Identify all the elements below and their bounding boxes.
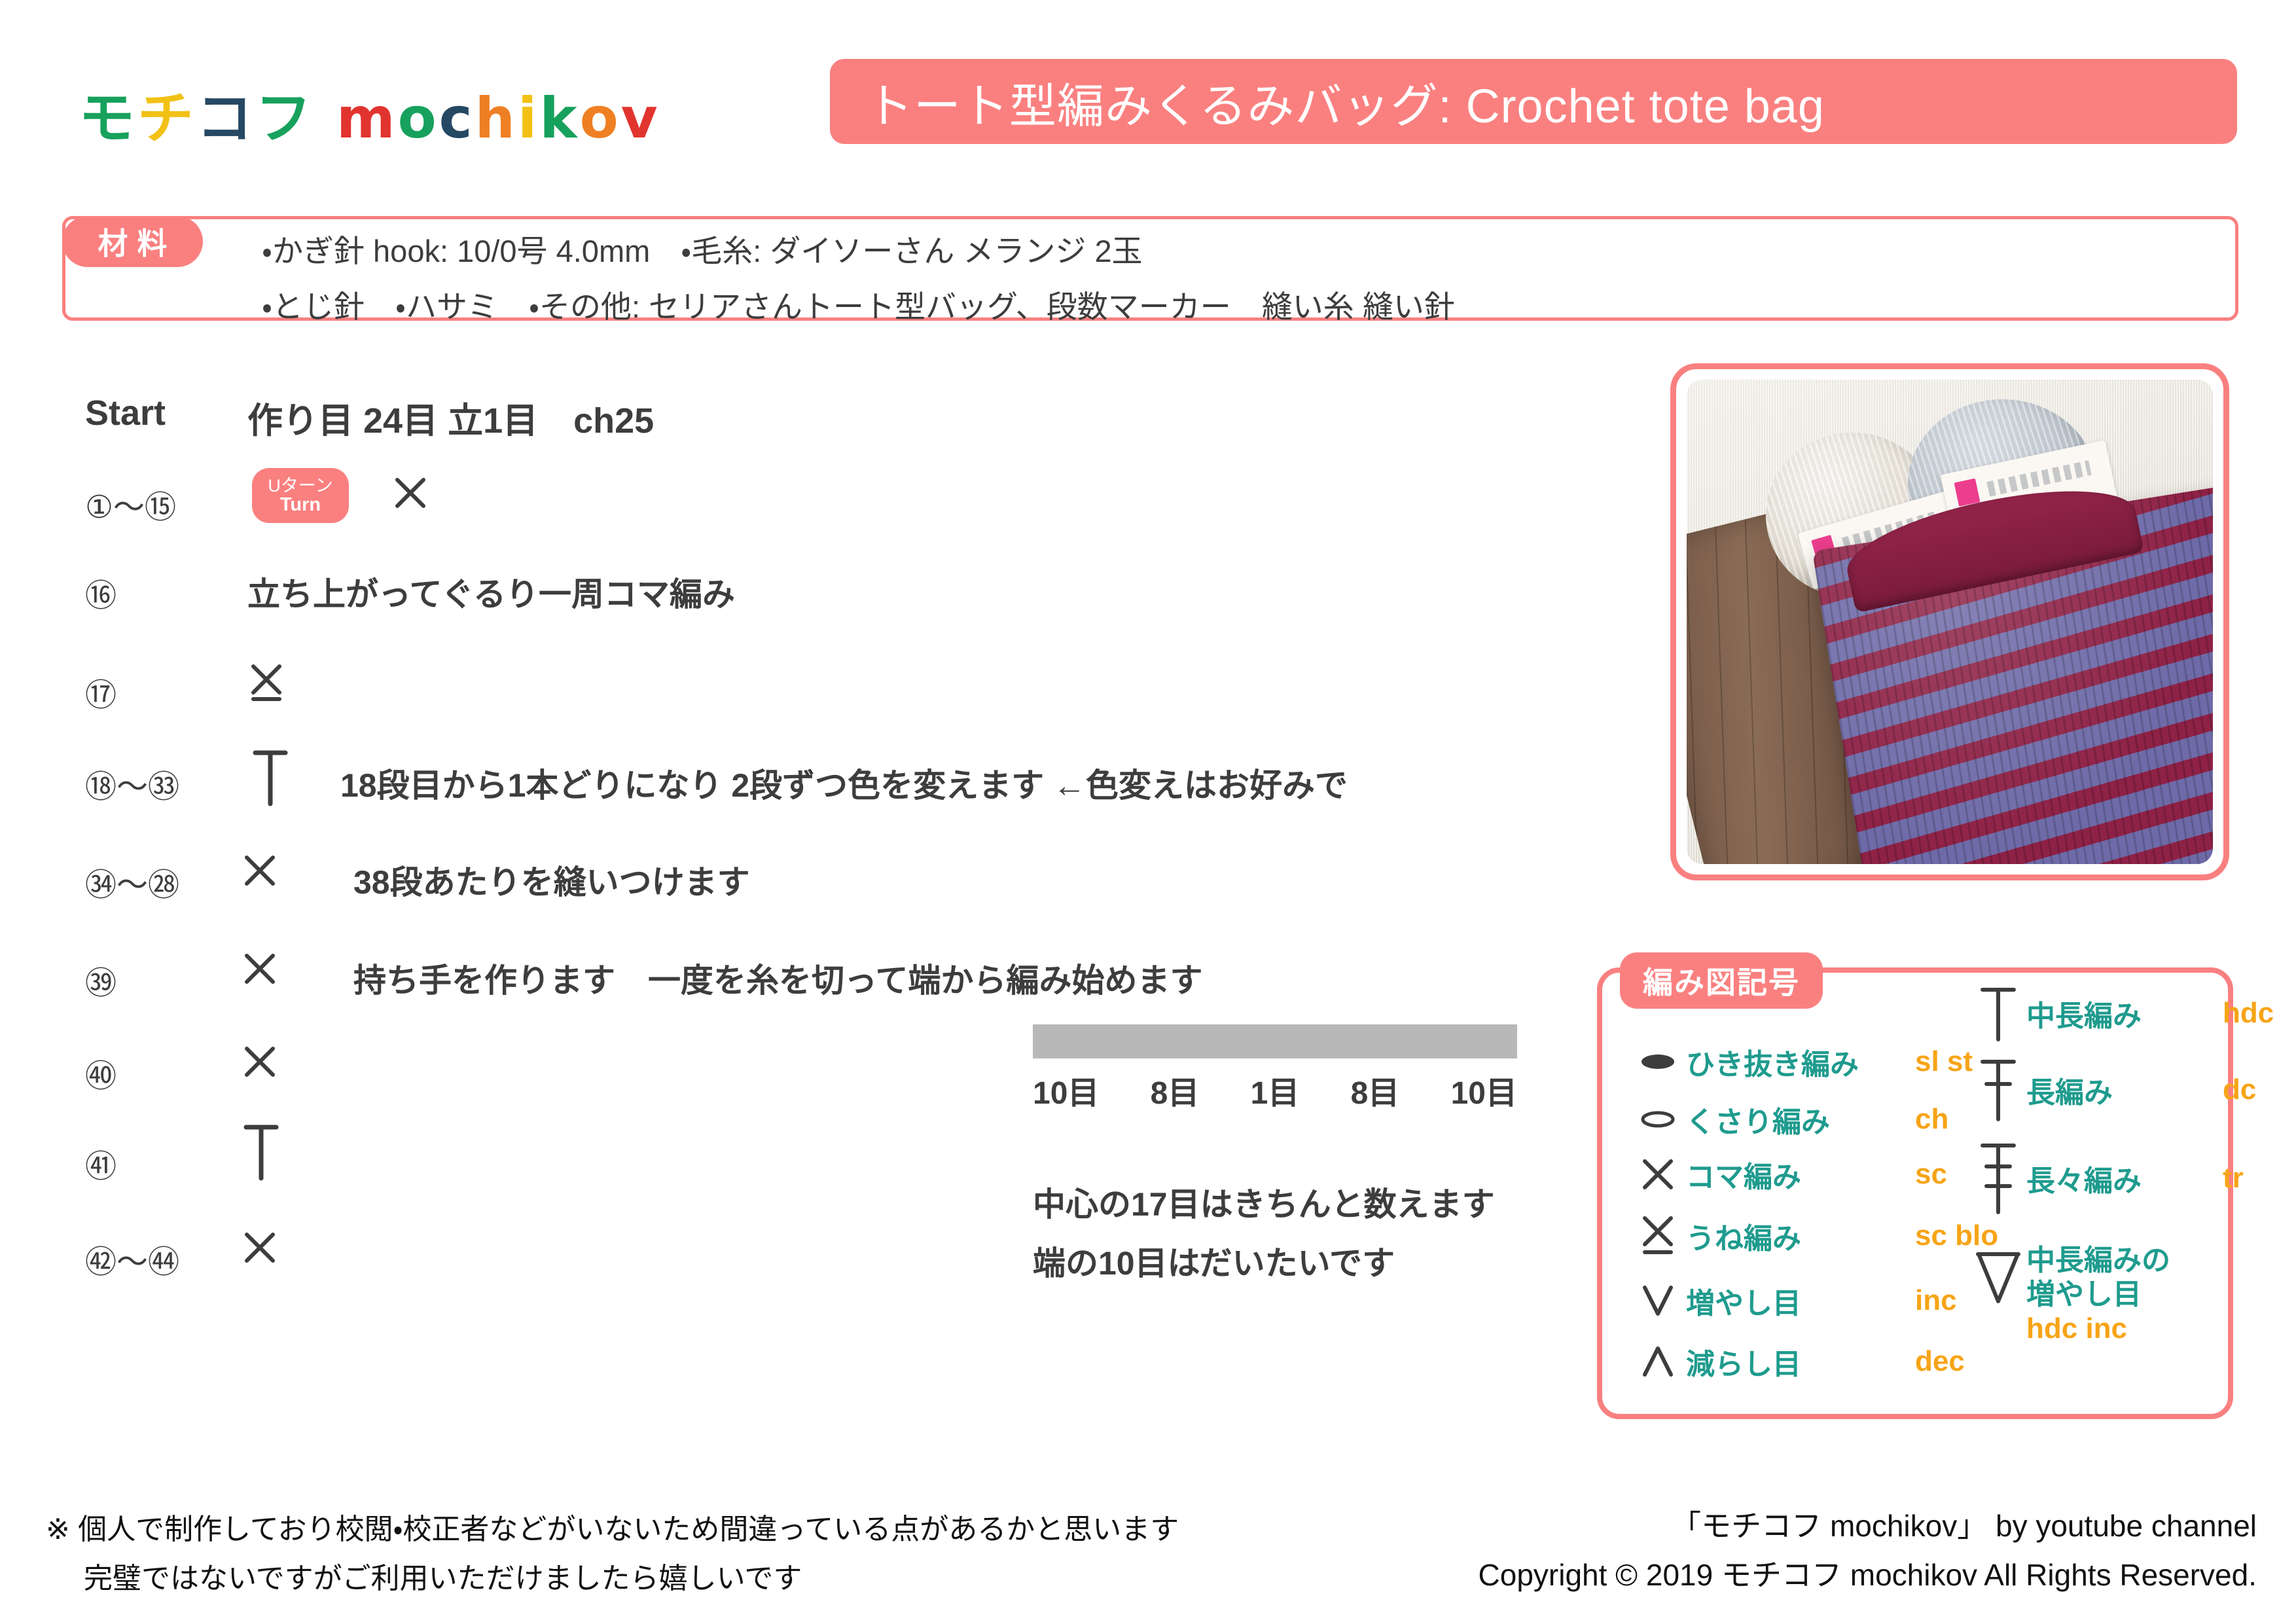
dc-icon <box>1970 1054 2026 1126</box>
row-text-18-33: 18段目から1本どりになり 2段ずつ色を変えます ←色変えはお好みで <box>340 759 1348 806</box>
legend-en-inc: inc <box>1915 1284 1957 1317</box>
legend-jp-sl-st: ひき抜き編み <box>1686 1041 1915 1083</box>
start-label: Start <box>85 393 166 433</box>
legend-item-hdc: 中長編み hdc <box>1970 982 2274 1045</box>
legend-jp-tr: 長々編み <box>2026 1157 2223 1199</box>
count-1: 10目 <box>1033 1067 1099 1113</box>
legend-en-dec: dec <box>1915 1345 1965 1378</box>
row-label-17: ⑰ <box>85 669 117 715</box>
legend-en-sc: sc <box>1915 1158 1947 1191</box>
turn-badge-en: Turn <box>280 495 321 514</box>
legend-jp-hdc: 中長編み <box>2026 992 2223 1034</box>
legend-en-dc: dc <box>2223 1074 2256 1106</box>
count-3: 1目 <box>1251 1067 1300 1113</box>
start-text: 作り目 24目 立1目 ch25 <box>247 391 654 443</box>
row-text-39: 持ち手を作ります 一度を糸を切って端から編み始めます <box>353 954 1203 1001</box>
credit-line-1: 「モチコフ mochikov」 by youtube channel <box>1671 1502 2257 1545</box>
legend-hdc-inc-labels: 中長編みの 増やし目 hdc inc <box>2026 1244 2170 1346</box>
title-banner: トート型編みくるみバッグ: Crochet tote bag <box>830 59 2237 144</box>
legend-jp-dc: 長編み <box>2026 1069 2223 1111</box>
row-symbol-sc-34-38 <box>242 852 278 889</box>
legend-jp-hdc-inc-2: 増やし目 <box>2026 1278 2170 1312</box>
legend-item-sc: コマ編み sc <box>1630 1153 1947 1195</box>
sc-icon <box>1630 1156 1686 1193</box>
sc-blo-icon <box>1630 1214 1686 1257</box>
row-symbol-sc-1-15 <box>393 475 428 511</box>
materials-line-2: ・とじ針 ・ハサミ ・その他: セリアさんトート型バッグ、段数マーカー 縫い糸 … <box>262 281 1455 327</box>
legend-en-tr: tr <box>2223 1162 2244 1195</box>
row-symbol-sc-39 <box>242 950 278 987</box>
legend-item-dec: 減らし目 dec <box>1630 1341 1965 1382</box>
legend-item-inc: 増やし目 inc <box>1630 1280 1957 1322</box>
handle-note-2: 端の10目はだいたいです <box>1033 1237 1395 1284</box>
ch-icon <box>1630 1108 1686 1131</box>
handle-note-1: 中心の17目はきちんと数えます <box>1033 1178 1495 1225</box>
product-photo-frame <box>1670 363 2229 880</box>
legend-item-sc-blo: うね編み sc blo <box>1630 1214 1998 1257</box>
turn-badge-jp: Uターン <box>268 477 332 495</box>
legend-jp-sc-blo: うね編み <box>1686 1215 1915 1257</box>
disclaimer-line-2: 完璧ではないですがご利用いただけましたら嬉しいです <box>84 1555 802 1597</box>
row-symbol-sc-blo-17 <box>249 662 284 706</box>
document-page: モチコフ mochikov トート型編みくるみバッグ: Crochet tote… <box>0 0 2296 1624</box>
count-4: 8目 <box>1351 1067 1400 1113</box>
legend-jp-inc: 増やし目 <box>1686 1280 1915 1322</box>
handle-stitch-counts: 10目 8目 1目 8目 10目 <box>1033 1067 1517 1113</box>
row-text-16: 立ち上がってぐるり一周コマ編み <box>247 568 735 615</box>
dec-icon <box>1630 1343 1686 1380</box>
legend-en-ch: ch <box>1915 1103 1948 1136</box>
inc-icon <box>1630 1282 1686 1319</box>
row-label-1-15: ①〜⑮ <box>85 481 176 527</box>
sl-st-icon <box>1630 1050 1686 1074</box>
count-5: 10目 <box>1451 1067 1517 1113</box>
turn-badge: Uターン Turn <box>252 468 349 523</box>
brand-logo: モチコフ mochikov <box>79 72 660 154</box>
credit-line-2: Copyright © 2019 モチコフ mochikov All Right… <box>1479 1551 2257 1595</box>
materials-line-1: ・かぎ針 hook: 10/0号 4.0mm ・毛糸: ダイソーさん メランジ … <box>262 226 1143 271</box>
row-text-34-38: 38段あたりを縫いつけます <box>353 856 750 903</box>
disclaimer-line-1: ※ 個人で制作しており校閲・校正者などがいないため間違っている点があるかと思いま… <box>46 1506 1179 1547</box>
materials-badge: 材料 <box>62 216 203 267</box>
row-symbol-sc-42-44 <box>242 1229 278 1266</box>
legend-jp-ch: くさり編み <box>1686 1098 1915 1140</box>
row-symbol-hdc-41 <box>241 1121 281 1183</box>
row-label-42-44: ㊷〜㊹ <box>85 1236 179 1282</box>
hdc-icon <box>1970 982 2026 1045</box>
legend-en-hdc-inc: hdc inc <box>2026 1312 2170 1346</box>
row-label-34-38: ㉞〜㉘ <box>85 859 179 905</box>
legend-item-sl-st: ひき抜き編み sl st <box>1630 1041 1973 1083</box>
legend-jp-sc: コマ編み <box>1686 1153 1915 1195</box>
product-photo <box>1687 380 2213 864</box>
legend-item-dc: 長編み dc <box>1970 1054 2256 1126</box>
legend-en-hdc: hdc <box>2223 997 2274 1030</box>
legend-item-tr: 長々編み tr <box>1970 1138 2244 1219</box>
legend-jp-dec: 減らし目 <box>1686 1341 1915 1382</box>
row-symbol-hdc-18-33 <box>250 746 291 809</box>
row-label-40: ㊵ <box>85 1050 117 1096</box>
page-title: トート型編みくるみバッグ: Crochet tote bag <box>866 67 1825 136</box>
row-label-41: ㊶ <box>85 1140 117 1186</box>
count-2: 8目 <box>1151 1067 1200 1113</box>
row-label-16: ⑯ <box>85 569 117 615</box>
row-label-39: ㊴ <box>85 957 117 1003</box>
handle-diagram-bar <box>1033 1024 1517 1058</box>
legend-item-hdc-inc: 中長編みの 増やし目 hdc inc <box>1970 1244 2170 1346</box>
legend-jp-hdc-inc-1: 中長編みの <box>2026 1244 2170 1278</box>
row-label-18-33: ⑱〜㉝ <box>85 761 179 806</box>
legend-badge: 編み図記号 <box>1620 952 1823 1009</box>
legend-en-sl-st: sl st <box>1915 1045 1973 1078</box>
legend-item-ch: くさり編み ch <box>1630 1098 1948 1140</box>
row-symbol-sc-40 <box>242 1043 278 1080</box>
hdc-inc-icon <box>1970 1244 2026 1308</box>
tr-icon <box>1970 1138 2026 1219</box>
